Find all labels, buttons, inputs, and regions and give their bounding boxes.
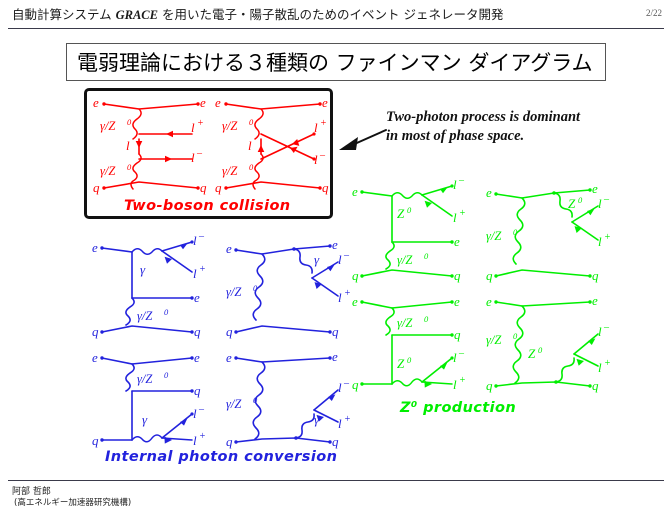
svg-text:e: e: [332, 349, 338, 364]
svg-text:e: e: [92, 350, 98, 365]
svg-text:l: l: [338, 290, 342, 305]
svg-text:0: 0: [164, 370, 169, 380]
svg-text:l: l: [193, 233, 197, 248]
svg-text:e: e: [454, 234, 460, 249]
svg-text:+: +: [344, 414, 351, 425]
svg-text:0: 0: [164, 307, 169, 317]
svg-text:l: l: [191, 120, 195, 135]
svg-text:+: +: [199, 431, 206, 442]
svg-text:e: e: [332, 237, 338, 252]
svg-text:Z: Z: [568, 196, 576, 211]
svg-text:–: –: [198, 404, 205, 415]
header-title: 自動計算システム GRACE を用いた電子・陽子散乱のためのイベント ジェネレー…: [12, 4, 503, 23]
internal-photon-conversion-label: Internal photon conversion: [105, 449, 337, 465]
two-boson-collision-label: Two-boson collision: [124, 198, 291, 214]
svg-text:e: e: [92, 240, 98, 255]
svg-text:–: –: [458, 175, 465, 186]
header-title-post: を用いた電子・陽子散乱のためのイベント ジェネレータ開発: [158, 7, 503, 22]
svg-text:q: q: [454, 327, 461, 342]
svg-text:e: e: [93, 95, 99, 110]
svg-text:γ/Z: γ/Z: [397, 316, 413, 330]
svg-text:0: 0: [249, 162, 254, 172]
footer-affiliation: (高エネルギー加速器研究機構): [14, 496, 131, 508]
svg-text:l: l: [193, 406, 197, 421]
svg-text:Z: Z: [397, 356, 405, 371]
svg-text:l: l: [191, 150, 195, 165]
slide: 自動計算システム GRACE を用いた電子・陽子散乱のためのイベント ジェネレー…: [0, 0, 672, 515]
svg-text:0: 0: [424, 251, 429, 261]
svg-text:e: e: [592, 293, 598, 308]
svg-text:l: l: [453, 210, 457, 225]
svg-text:l: l: [598, 360, 602, 375]
svg-text:e: e: [454, 294, 460, 309]
svg-text:l: l: [248, 138, 252, 153]
diagram-two-boson-collision-direct: e e q q l+ l– l γ/Z0 γ/Z0: [92, 92, 210, 194]
svg-text:+: +: [459, 375, 466, 386]
svg-text:γ/Z: γ/Z: [226, 285, 242, 299]
svg-text:–: –: [343, 378, 350, 389]
svg-text:q: q: [92, 433, 99, 448]
svg-text:e: e: [322, 95, 328, 110]
svg-text:0: 0: [407, 355, 412, 365]
annotation-arrow: [336, 126, 392, 160]
svg-text:γ/Z: γ/Z: [226, 397, 242, 411]
svg-text:γ/Z: γ/Z: [486, 333, 502, 347]
svg-text:q: q: [215, 180, 222, 195]
svg-text:+: +: [459, 208, 466, 219]
svg-text:–: –: [196, 148, 203, 159]
svg-text:+: +: [320, 118, 327, 129]
header-title-pre: 自動計算システム: [12, 7, 116, 22]
svg-text:0: 0: [407, 205, 412, 215]
svg-text:q: q: [226, 434, 233, 449]
svg-text:–: –: [603, 194, 610, 205]
svg-text:l: l: [338, 380, 342, 395]
diagram-z0-production-q-radiative: e e l– l+ q q Z0 γ/Z0: [486, 292, 610, 396]
svg-text:e: e: [226, 350, 232, 365]
svg-text:+: +: [199, 264, 206, 275]
svg-text:e: e: [226, 241, 232, 256]
svg-text:e: e: [592, 181, 598, 196]
svg-text:–: –: [458, 348, 465, 359]
header-title-grace: GRACE: [116, 8, 158, 22]
page-title-text: 電弱理論における３種類の ファインマン ダイアグラム: [77, 47, 593, 77]
svg-text:γ: γ: [314, 252, 320, 267]
footer-divider: [8, 480, 664, 481]
svg-text:e: e: [215, 95, 221, 110]
svg-text:q: q: [332, 434, 339, 449]
svg-text:e: e: [194, 350, 200, 365]
svg-text:l: l: [314, 152, 318, 167]
svg-text:q: q: [93, 180, 100, 195]
svg-text:l: l: [598, 234, 602, 249]
svg-text:q: q: [352, 377, 359, 392]
annotation-line-2: in most of phase space.: [386, 127, 661, 146]
svg-text:q: q: [200, 180, 207, 195]
svg-text:γ: γ: [142, 412, 148, 427]
svg-text:q: q: [92, 324, 99, 339]
svg-text:0: 0: [424, 314, 429, 324]
svg-text:q: q: [592, 378, 599, 393]
diagram-internal-photon-conversion-q-lower: e e q q l– l+ γ γ/Z0: [92, 348, 214, 452]
annotation-line-1: Two-photon process is dominant: [386, 108, 661, 127]
svg-text:–: –: [198, 231, 205, 242]
svg-text:γ/Z: γ/Z: [397, 253, 413, 267]
svg-text:q: q: [194, 383, 201, 398]
diagram-z0-production-e-radiative: e e l– l+ q q Z0 γ/Z0: [486, 180, 610, 284]
svg-text:0: 0: [127, 162, 132, 172]
diagram-z0-production-e-upper: e l– l+ e q q Z0 γ/Z0: [352, 180, 474, 284]
svg-text:–: –: [343, 250, 350, 261]
page-title: 電弱理論における３種類の ファインマン ダイアグラム: [66, 43, 606, 81]
svg-text:γ/Z: γ/Z: [100, 164, 116, 178]
header-divider: [8, 28, 664, 29]
svg-text:γ/Z: γ/Z: [137, 309, 153, 323]
svg-text:l: l: [193, 266, 197, 281]
svg-text:Z: Z: [528, 346, 536, 361]
svg-text:l: l: [338, 252, 342, 267]
svg-text:0: 0: [538, 345, 543, 355]
svg-text:γ/Z: γ/Z: [222, 164, 238, 178]
svg-text:l: l: [598, 324, 602, 339]
svg-text:Z: Z: [397, 206, 405, 221]
svg-text:q: q: [352, 268, 359, 283]
svg-text:l: l: [314, 120, 318, 135]
diagram-z0-production-q-lower: e e q q l– l+ Z0 γ/Z0: [352, 292, 474, 396]
svg-text:e: e: [194, 290, 200, 305]
svg-text:e: e: [352, 294, 358, 309]
svg-text:q: q: [194, 324, 201, 339]
svg-text:0: 0: [127, 117, 132, 127]
svg-text:q: q: [454, 268, 461, 283]
svg-text:+: +: [604, 358, 611, 369]
svg-text:–: –: [603, 322, 610, 333]
annotation-text: Two-photon process is dominant in most o…: [386, 108, 661, 146]
svg-text:γ/Z: γ/Z: [222, 119, 238, 133]
svg-text:–: –: [319, 150, 326, 161]
diagram-internal-photon-conversion-e-upper: e l– l+ e q q γ γ/Z0: [92, 236, 214, 340]
svg-text:l: l: [453, 350, 457, 365]
slide-header: 自動計算システム GRACE を用いた電子・陽子散乱のためのイベント ジェネレー…: [8, 4, 664, 28]
svg-text:q: q: [226, 324, 233, 339]
svg-text:l: l: [453, 377, 457, 392]
svg-text:e: e: [352, 184, 358, 199]
svg-text:l: l: [193, 433, 197, 448]
svg-text:+: +: [197, 118, 204, 129]
svg-text:q: q: [322, 180, 329, 195]
diagram-internal-photon-conversion-q-radiative: e e l– l+ q q γ γ/Z0: [226, 348, 350, 452]
svg-text:γ: γ: [314, 412, 320, 427]
svg-text:γ/Z: γ/Z: [100, 119, 116, 133]
svg-text:l: l: [126, 138, 130, 153]
svg-text:e: e: [486, 185, 492, 200]
svg-text:l: l: [453, 177, 457, 192]
svg-text:e: e: [486, 294, 492, 309]
svg-text:l: l: [338, 416, 342, 431]
svg-text:q: q: [332, 324, 339, 339]
svg-text:q: q: [592, 268, 599, 283]
diagram-two-boson-collision-crossed: e e q q l+ l– l γ/Z0 γ/Z0: [214, 92, 332, 194]
svg-text:e: e: [200, 95, 206, 110]
diagram-internal-photon-conversion-e-radiative: e e l– l+ q q γ γ/Z0: [226, 236, 350, 340]
svg-text:q: q: [486, 268, 493, 283]
z0-production-label: Z⁰ production: [400, 400, 516, 416]
svg-text:γ/Z: γ/Z: [137, 372, 153, 386]
svg-text:q: q: [486, 378, 493, 393]
svg-text:0: 0: [249, 117, 254, 127]
svg-text:0: 0: [578, 195, 583, 205]
svg-text:+: +: [344, 288, 351, 299]
svg-text:γ: γ: [140, 262, 146, 277]
svg-text:γ/Z: γ/Z: [486, 229, 502, 243]
page-number: 2/22: [646, 8, 662, 18]
svg-text:l: l: [598, 196, 602, 211]
svg-text:+: +: [604, 232, 611, 243]
